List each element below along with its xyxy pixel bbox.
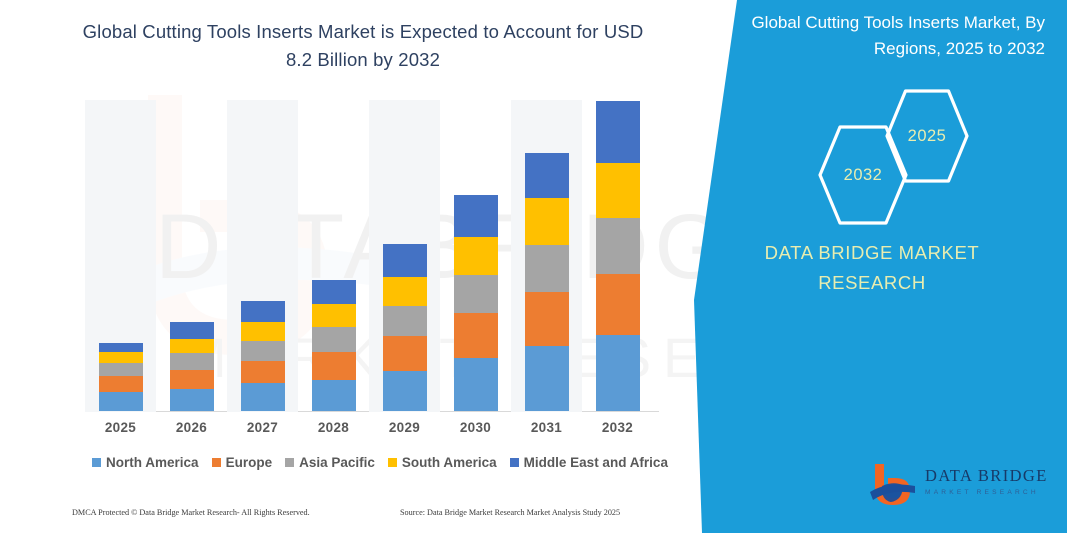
bar-segment: [170, 339, 214, 353]
company-logo-text-sub: MARKET RESEARCH: [925, 489, 1048, 496]
legend-label: Europe: [226, 455, 273, 470]
bar-segment: [241, 301, 285, 322]
bar-segment: [454, 275, 498, 313]
bar-segment: [312, 380, 356, 411]
hexagon-2032-label: 2032: [817, 124, 909, 226]
x-axis-labels: 20252026202720282029203020312032: [85, 420, 653, 444]
infographic-root: DATABRIDGE MARKET RESEARCH Global Cuttin…: [0, 0, 1067, 533]
x-axis-label-2026: 2026: [157, 420, 227, 435]
chart-pane: DATABRIDGE MARKET RESEARCH Global Cuttin…: [0, 0, 720, 533]
footer-copyright: DMCA Protected © Data Bridge Market Rese…: [72, 508, 310, 517]
bar-segment: [170, 370, 214, 389]
legend-swatch-icon: [388, 458, 397, 467]
bar-segment: [312, 327, 356, 352]
company-logo-text-main: DATA BRIDGE: [925, 466, 1048, 486]
company-logo: DATA BRIDGE MARKET RESEARCH: [869, 462, 1049, 508]
bar-segment: [241, 341, 285, 361]
legend-swatch-icon: [285, 458, 294, 467]
bar-segment: [596, 274, 640, 335]
bar-segment: [241, 322, 285, 341]
bar-segment: [525, 292, 569, 347]
x-axis-label-2032: 2032: [583, 420, 653, 435]
x-axis-label-2030: 2030: [441, 420, 511, 435]
chart-legend: North AmericaEuropeAsia PacificSouth Ame…: [85, 455, 675, 470]
legend-item-asia-pacific[interactable]: Asia Pacific: [285, 455, 375, 470]
brand-name-line2: RESEARCH: [677, 268, 1067, 298]
bar-2032: [596, 101, 640, 411]
bar-2030: [454, 195, 498, 411]
x-axis-label-2029: 2029: [370, 420, 440, 435]
bar-segment: [596, 335, 640, 411]
legend-item-middle-east-and-africa[interactable]: Middle East and Africa: [510, 455, 668, 470]
brand-name: DATA BRIDGE MARKET RESEARCH: [677, 238, 1067, 297]
bar-segment: [525, 153, 569, 199]
bar-segment: [99, 392, 143, 411]
bar-segment: [170, 322, 214, 339]
x-axis-label-2027: 2027: [228, 420, 298, 435]
bar-segment: [454, 195, 498, 237]
bar-segment: [99, 352, 143, 363]
bar-segment: [596, 163, 640, 219]
bar-segment: [383, 371, 427, 411]
legend-label: Asia Pacific: [299, 455, 375, 470]
bar-2027: [241, 301, 285, 411]
footer: DMCA Protected © Data Bridge Market Rese…: [0, 508, 720, 528]
x-axis-label-2028: 2028: [299, 420, 369, 435]
bar-segment: [596, 101, 640, 162]
bar-2025: [99, 343, 143, 411]
legend-item-europe[interactable]: Europe: [212, 455, 273, 470]
bar-segment: [312, 304, 356, 327]
company-logo-text: DATA BRIDGE MARKET RESEARCH: [925, 466, 1048, 496]
brand-panel-title: Global Cutting Tools Inserts Market, By …: [735, 10, 1045, 63]
legend-item-south-america[interactable]: South America: [388, 455, 497, 470]
x-axis-label-2025: 2025: [86, 420, 156, 435]
bar-segment: [525, 346, 569, 411]
plot-area: [85, 100, 653, 412]
bar-segment: [454, 313, 498, 358]
bar-segment: [99, 376, 143, 392]
legend-label: South America: [402, 455, 497, 470]
footer-source: Source: Data Bridge Market Research Mark…: [400, 508, 620, 517]
legend-swatch-icon: [92, 458, 101, 467]
legend-label: North America: [106, 455, 199, 470]
bar-segment: [170, 389, 214, 411]
bar-segment: [241, 383, 285, 411]
bar-segment: [312, 352, 356, 380]
chart-title: Global Cutting Tools Inserts Market is E…: [68, 18, 658, 74]
bar-segment: [241, 361, 285, 383]
bar-segment: [596, 218, 640, 274]
legend-item-north-america[interactable]: North America: [92, 455, 199, 470]
legend-swatch-icon: [212, 458, 221, 467]
bar-segment: [170, 353, 214, 370]
bar-segment: [99, 363, 143, 376]
hexagon-2032: 2032: [817, 124, 909, 226]
legend-swatch-icon: [510, 458, 519, 467]
bar-segment: [383, 306, 427, 336]
hexagon-group: 2025 2032: [677, 88, 1067, 208]
bar-segment: [454, 358, 498, 411]
bar-segment: [383, 277, 427, 306]
bar-2029: [383, 244, 427, 411]
bar-2028: [312, 280, 356, 411]
bar-2026: [170, 322, 214, 411]
bar-2031: [525, 153, 569, 411]
brand-name-line1: DATA BRIDGE MARKET: [677, 238, 1067, 268]
company-logo-mark-icon: [869, 462, 919, 508]
bar-segment: [454, 237, 498, 275]
bar-segment: [525, 198, 569, 245]
bar-segment: [525, 245, 569, 292]
bar-segment: [312, 280, 356, 305]
bar-segment: [383, 336, 427, 371]
brand-panel: Global Cutting Tools Inserts Market, By …: [677, 0, 1067, 533]
x-axis-label-2031: 2031: [512, 420, 582, 435]
bar-segment: [99, 343, 143, 352]
legend-label: Middle East and Africa: [524, 455, 668, 470]
bar-segment: [383, 244, 427, 277]
